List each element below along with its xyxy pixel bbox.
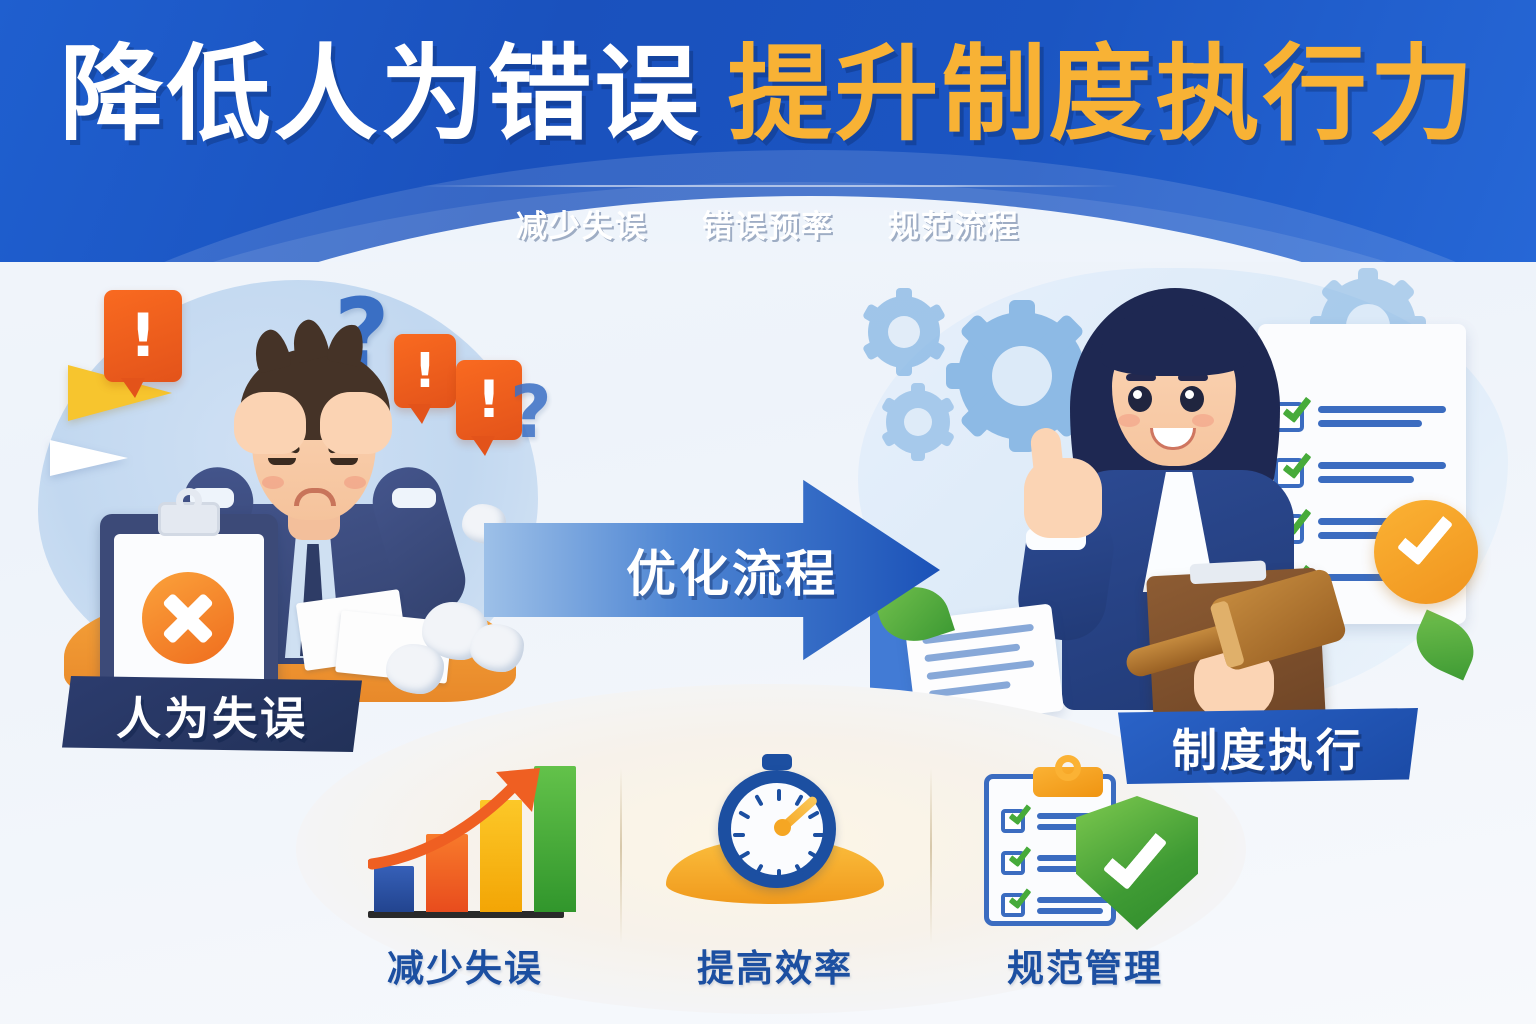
check-mark-icon	[1008, 843, 1031, 868]
stopwatch-tick	[777, 789, 781, 801]
crumpled-paper-3	[386, 644, 444, 694]
stopwatch-tick	[777, 869, 781, 881]
exclamation-glyph-1: !	[129, 301, 156, 371]
stopwatch-tick	[754, 863, 763, 875]
checkbox-icon	[1001, 809, 1025, 833]
check-mark-icon	[1008, 885, 1031, 910]
clipboard-shield-icon	[970, 762, 1200, 930]
thumbs-up-icon	[1024, 458, 1102, 538]
subtitle-item-3: 规范流程	[888, 201, 1020, 246]
question-glyph-2: ?	[510, 370, 552, 454]
person-cheek-right	[1192, 414, 1214, 427]
feature-label-1: 减少失误	[387, 938, 543, 992]
scene-system-execution	[858, 268, 1508, 748]
feature-reduce-errors: 减少失误	[310, 742, 620, 992]
scene-human-error: ! ! ! ? ?	[38, 272, 558, 712]
person-eye-right	[330, 458, 358, 465]
arrow-label: 优化流程	[602, 528, 862, 612]
chart-baseline	[368, 911, 564, 918]
approval-check-icon	[1374, 500, 1478, 604]
process-arrow: 优化流程	[484, 472, 940, 668]
hair-spike-1	[250, 326, 293, 373]
subtitle-divider	[418, 185, 1118, 187]
clipboard-clip	[1190, 560, 1267, 584]
person-cheek-left	[262, 476, 284, 489]
poster-title: 降低人为错误提升制度执行力	[0, 42, 1536, 146]
features-row: 减少失误	[310, 742, 1240, 992]
person-hand-left	[234, 392, 306, 454]
feature-label-3: 规范管理	[1007, 938, 1163, 992]
checklist-line	[1037, 897, 1111, 903]
stopwatch-tick	[813, 833, 825, 837]
stopwatch-tick	[807, 810, 819, 819]
infographic-poster: 降低人为错误提升制度执行力 减少失误 错误预率 规范流程 ! ! !	[0, 0, 1536, 1024]
exclamation-icon-1: !	[104, 290, 182, 382]
person-cheek-left	[1118, 414, 1140, 427]
bar-chart-growth-icon	[350, 762, 580, 930]
checkbox-icon	[1001, 851, 1025, 875]
clipboard-ring	[1055, 755, 1081, 781]
paper-plane-icon	[50, 440, 128, 476]
document-line	[926, 660, 1034, 680]
checkbox-icon	[1001, 893, 1025, 917]
stopwatch-pin	[774, 819, 791, 836]
person-cuff-right	[392, 488, 436, 508]
stopwatch-bezel	[718, 770, 836, 888]
error-clipboard	[100, 514, 278, 696]
stopwatch-tick	[738, 810, 750, 819]
checklist-row	[1001, 893, 1111, 919]
banner-human-error: 人为失误	[62, 676, 362, 752]
growth-arrow-icon	[368, 768, 558, 874]
checklist-line	[1037, 908, 1103, 914]
hair-spike-3	[326, 321, 368, 367]
shield-check-glyph	[1103, 822, 1167, 890]
check-mark-icon	[1008, 801, 1031, 826]
stopwatch-tick	[807, 850, 819, 859]
person-hand-right	[320, 392, 392, 454]
stopwatch-icon	[660, 762, 890, 930]
person-eye-right	[1180, 386, 1204, 412]
question-mark-icon-2: ?	[510, 370, 552, 454]
feature-improve-efficiency: 提高效率	[620, 742, 930, 992]
check-glyph	[1397, 506, 1453, 565]
stopwatch-tick	[733, 833, 745, 837]
person-eye-left	[268, 458, 296, 465]
gear-icon-small	[868, 296, 940, 368]
stopwatch-tick	[754, 794, 763, 806]
title-segment-primary: 降低人为错误	[59, 42, 701, 146]
clipboard-ring	[176, 488, 202, 514]
poster-subtitle: 减少失误 错误预率 规范流程	[0, 185, 1536, 246]
stopwatch-tick	[794, 863, 803, 875]
banner-system-execution: 制度执行	[1118, 708, 1418, 784]
title-segment-secondary: 提升制度执行力	[728, 42, 1477, 146]
subtitle-item-2: 错误预率	[702, 201, 834, 246]
person-eye-left	[1128, 386, 1152, 412]
stopwatch-crown	[762, 754, 792, 770]
poster-header: 降低人为错误提升制度执行力 减少失误 错误预率 规范流程	[0, 0, 1536, 262]
feature-label-2: 提高效率	[697, 938, 853, 992]
stopwatch-tick	[738, 850, 750, 859]
person-cheek-right	[344, 476, 366, 489]
subtitle-item-1: 减少失误	[516, 201, 648, 246]
exclamation-glyph-3: !	[477, 370, 501, 430]
thumb-digit	[1029, 427, 1064, 482]
x-mark-icon	[142, 572, 234, 664]
gear-icon-tiny	[886, 390, 950, 454]
